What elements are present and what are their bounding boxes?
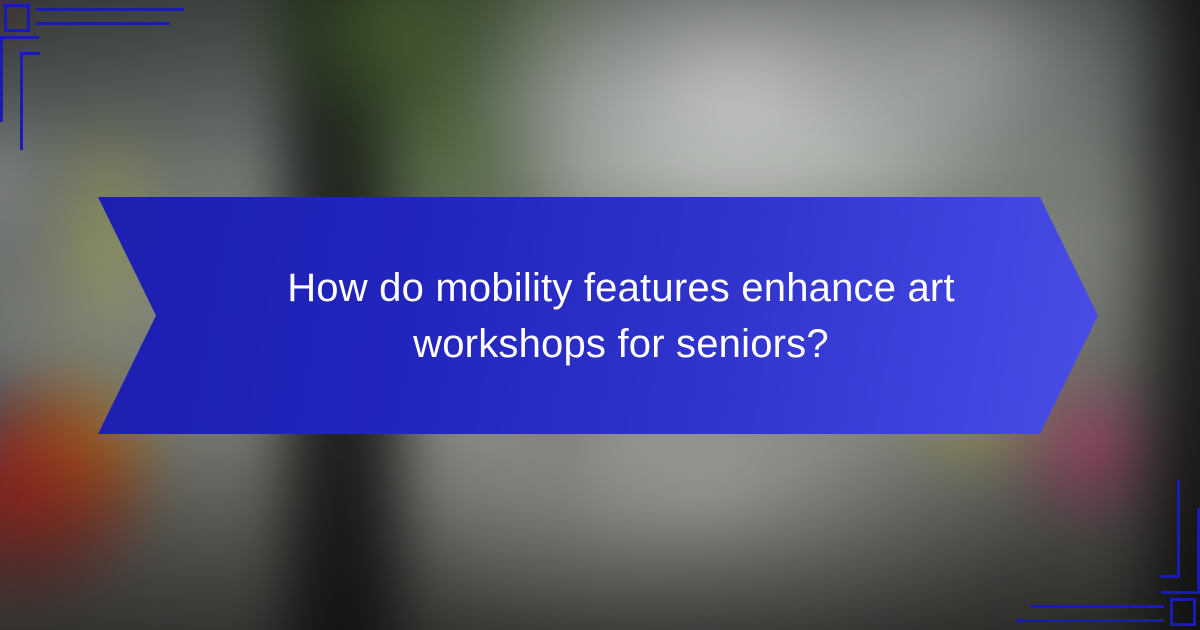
banner-canvas: How do mobility features enhance art wor…	[0, 0, 1200, 630]
corner-bracket-top-left-icon	[0, 0, 200, 150]
corner-bracket-bottom-right-icon	[1000, 480, 1200, 630]
bracket-line-horizontal-outer	[36, 8, 184, 11]
bracket-line-horizontal-outer	[1016, 619, 1164, 622]
bracket-line-vertical-outer	[0, 36, 3, 122]
bracket-line-corner-inner	[1160, 575, 1180, 578]
headline-text: How do mobility features enhance art wor…	[241, 260, 1001, 372]
bracket-line-horizontal-inner	[1030, 605, 1164, 608]
bracket-line-vertical-inner	[20, 52, 23, 150]
bracket-line-vertical-inner	[1177, 480, 1180, 578]
bracket-line-corner-outer	[1161, 591, 1200, 594]
bracket-line-corner-outer	[0, 36, 39, 39]
bracket-square-icon	[4, 4, 30, 32]
bracket-line-corner-inner	[20, 52, 40, 55]
bracket-square-icon	[1170, 598, 1196, 626]
headline-banner: How do mobility features enhance art wor…	[98, 197, 1098, 434]
bracket-line-horizontal-inner	[36, 22, 170, 25]
